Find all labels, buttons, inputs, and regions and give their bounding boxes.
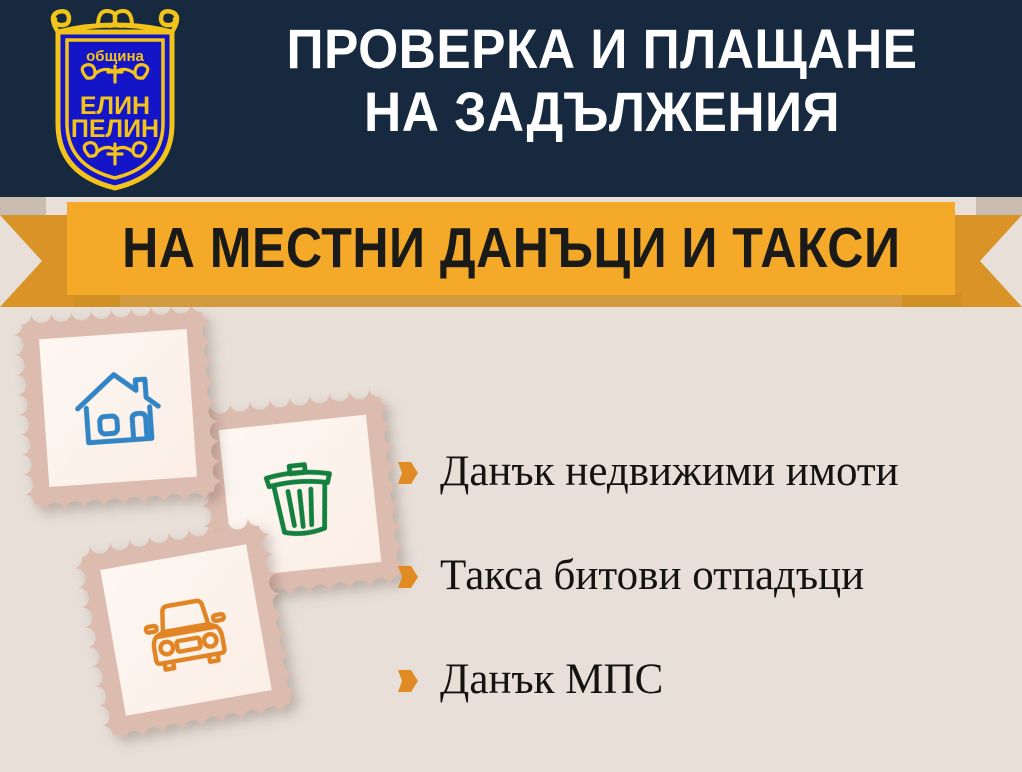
arrow-bullet-icon: [398, 461, 418, 485]
title-line-1: ПРОВЕРКА И ПЛАЩАНЕ: [228, 18, 975, 81]
stamp-card-car: [70, 514, 302, 746]
ribbon-fold-right: [976, 197, 1022, 215]
stamp-inner-car: [100, 544, 271, 715]
list-item[interactable]: Данък недвижими имоти: [398, 420, 1018, 524]
ribbon-fold-left: [0, 197, 46, 215]
crest-text-obshtina: община: [86, 48, 144, 65]
list-item[interactable]: Данък МПС: [398, 628, 1018, 732]
stamp-card-house: [11, 301, 224, 514]
ribbon-band: НА МЕСТНИ ДАНЪЦИ И ТАКСИ: [67, 202, 955, 295]
list-item-label: Данък недвижими имоти: [440, 448, 899, 495]
poster-canvas: община ЕЛИН ПЕЛИН: [0, 0, 1022, 772]
stamp-card-group: [0, 300, 420, 770]
crest-text-pelin: ПЕЛИН: [71, 115, 159, 143]
title-line-2: НА ЗАДЪЛЖЕНИЯ: [228, 81, 975, 144]
list-item-label: Такса битови отпадъци: [440, 552, 864, 599]
ribbon-banner: НА МЕСТНИ ДАНЪЦИ И ТАКСИ: [0, 197, 1022, 315]
list-item[interactable]: Такса битови отпадъци: [398, 524, 1018, 628]
ribbon-shadow: [74, 293, 962, 307]
arrow-bullet-icon: [398, 565, 418, 589]
tax-type-list: Данък недвижими имоти Такса битови отпад…: [398, 420, 1018, 732]
house-icon: [67, 357, 169, 459]
ribbon-label: НА МЕСТНИ ДАНЪЦИ И ТАКСИ: [122, 220, 900, 277]
arrow-bullet-icon: [398, 669, 418, 693]
page-title: ПРОВЕРКА И ПЛАЩАНЕ НА ЗАДЪЛЖЕНИЯ: [196, 18, 1008, 143]
stamp-inner-house: [39, 329, 197, 487]
car-front-icon: [130, 574, 241, 685]
header-banner: община ЕЛИН ПЕЛИН: [0, 0, 1022, 197]
list-item-label: Данък МПС: [440, 656, 663, 703]
coat-of-arms-icon: община ЕЛИН ПЕЛИН: [38, 6, 192, 192]
